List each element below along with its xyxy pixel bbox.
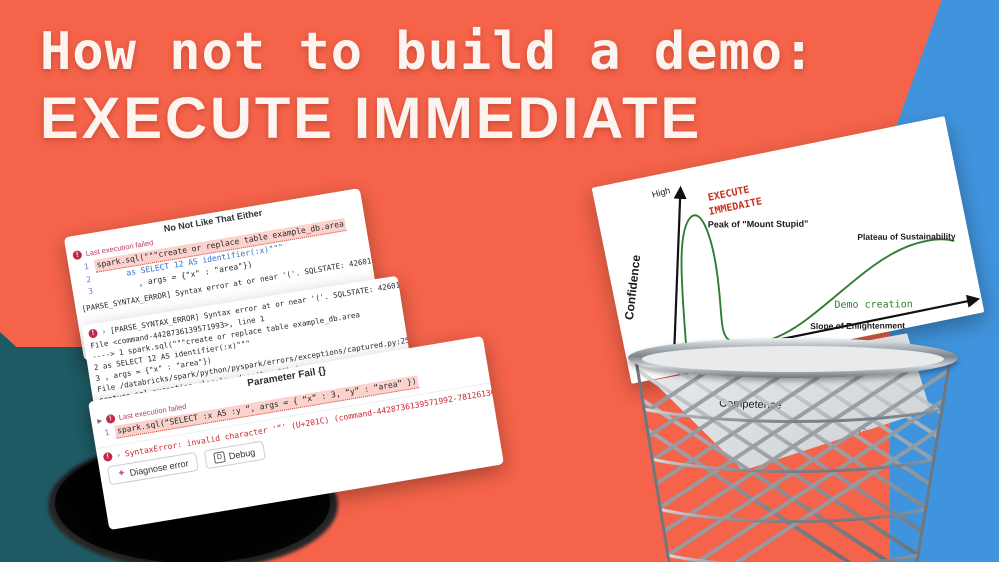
run-cell-icon[interactable]: ▶ (97, 416, 103, 426)
basket-outline (636, 351, 950, 562)
basket-rim-inner (642, 346, 944, 372)
wire-wastebasket: Competence Guru (628, 338, 958, 562)
poster-canvas: How not to build a demo: EXECUTE IMMEDIA… (0, 0, 999, 562)
debug-label: Debug (228, 447, 256, 461)
line-number: 1 (97, 427, 111, 441)
annotation-peak-mount-stupid: Peak of "Mount Stupid" (708, 219, 809, 230)
y-axis (641, 192, 713, 361)
error-icon: ! (88, 328, 98, 338)
error-icon: ! (103, 452, 113, 462)
line-number: 1 (76, 261, 90, 275)
y-axis-label: Confidence (622, 254, 643, 321)
sparkle-icon: ✦ (117, 468, 127, 480)
expand-chevron-icon[interactable]: › (116, 450, 122, 460)
line-number: 3 (80, 286, 94, 300)
error-icon: ! (72, 250, 82, 260)
expand-chevron-icon[interactable]: › (101, 327, 107, 337)
annotation-plateau: Plateau of Sustainability (857, 231, 956, 242)
debug-button[interactable]: D Debug (204, 441, 266, 470)
y-tick-high: High (651, 185, 672, 200)
diagnose-error-label: Diagnose error (129, 458, 189, 478)
annotation-slope: Slope of Enlightenment (810, 320, 905, 331)
basket-rim (628, 338, 958, 378)
mesh-hoops (638, 408, 948, 562)
error-icon: ! (105, 414, 115, 424)
debug-icon: D (213, 451, 226, 464)
annotation-demo-creation: Demo creation (834, 299, 912, 311)
